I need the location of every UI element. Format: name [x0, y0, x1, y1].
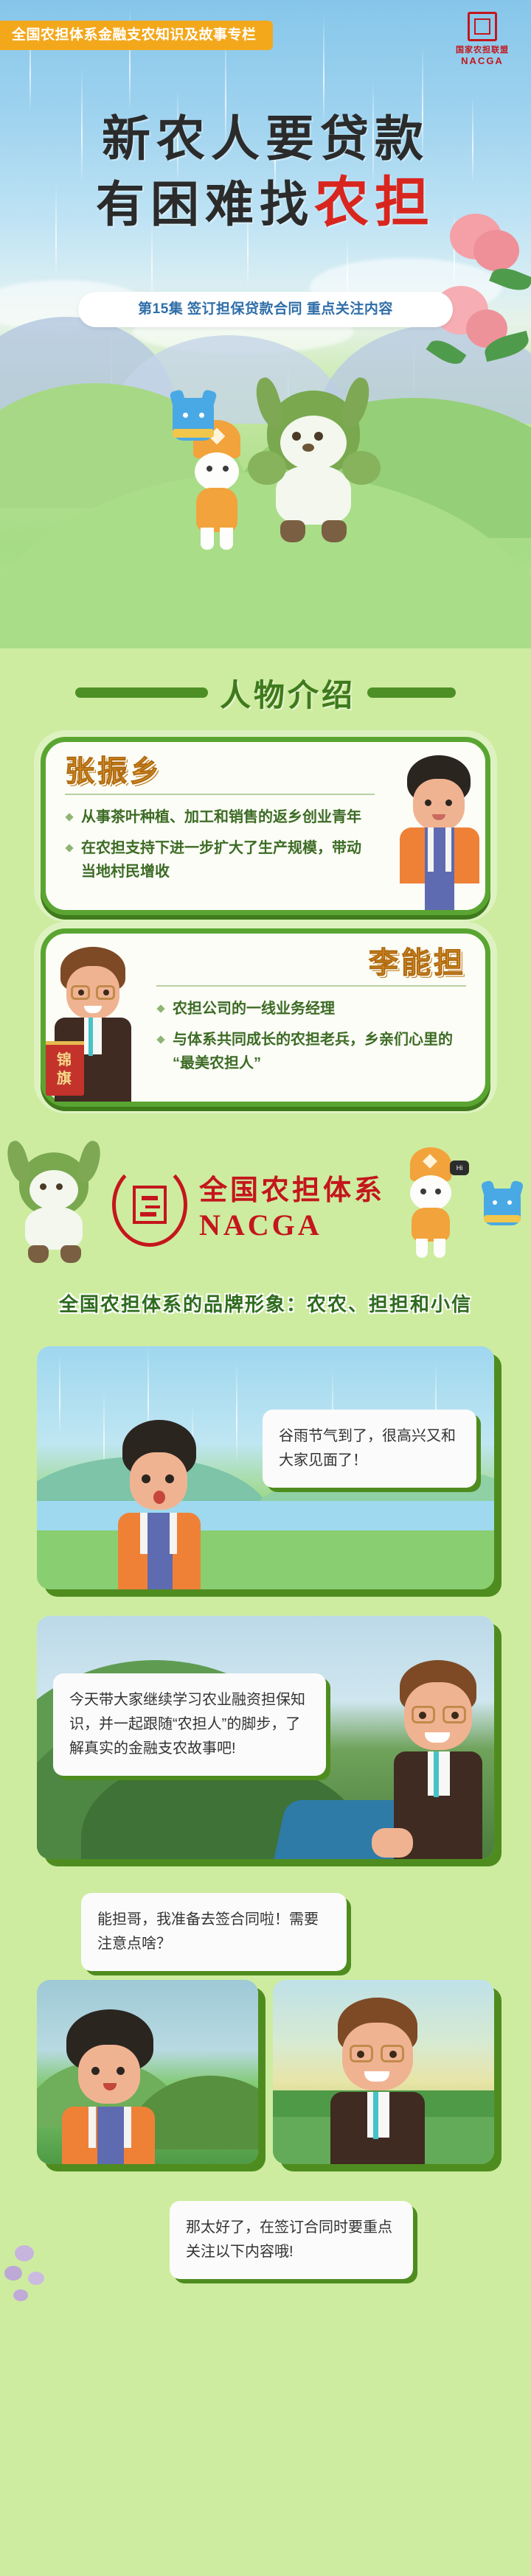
hero-title-line2-prefix: 有困难找: [96, 178, 314, 232]
speech-bubble-4: 那太好了，在签订合同时要重点关注以下内容哦!: [170, 2201, 413, 2279]
character-card-zhangzhenxiang: 张振乡 从事茶叶种植、加工和销售的返乡创业青年 在农担支持下进一步扩大了生产规模…: [41, 737, 490, 915]
hero-title: 新农人要贷款 有困难找农担: [0, 111, 531, 237]
character-name: 李能担: [156, 947, 466, 979]
character-bullet-list: 从事茶叶种植、加工和销售的返乡创业青年 在农担支持下进一步扩大了生产规模，带动当…: [65, 805, 375, 883]
brand-en-large: NACGA: [199, 1208, 385, 1242]
list-item: 在农担支持下进一步扩大了生产规模，带动当地村民增收: [65, 836, 375, 883]
section-header-people: 人物介绍: [0, 648, 531, 737]
comic-panel-row-two-shot: [0, 1980, 531, 2164]
hero-title-line1: 新农人要贷款: [0, 111, 531, 170]
brand-text-block: 全国农担体系 NACGA: [199, 1167, 385, 1242]
speech-bubble-3: 能担哥，我准备去签合同啦！需要注意点啥？: [81, 1893, 347, 1971]
hero-section: 全国农担体系金融支农知识及故事专栏 国家农担联盟 NACGA 新农人要贷款 有困…: [0, 0, 531, 648]
mascot-dandan-large: [6, 1142, 102, 1267]
brand-mark-top: 国家农担联盟 NACGA: [447, 12, 518, 66]
nacga-logo: 全国农担体系 NACGA: [109, 1157, 385, 1253]
comic-panel-2: 今天带大家继续学习农业融资担保知识，并一起跟随“农担人”的脚步，了解真实的金融支…: [37, 1616, 494, 1859]
brand-cn-small: 国家农担联盟: [447, 43, 518, 55]
flower-decoration: [0, 2230, 81, 2311]
infographic-page: 全国农担体系金融支农知识及故事专栏 国家农担联盟 NACGA 新农人要贷款 有困…: [0, 0, 531, 2576]
avatar-zhangzhenxiang: [386, 755, 490, 910]
character-linengdan-panel2: [383, 1660, 487, 1859]
comic-panel-3: [37, 1980, 258, 2164]
header-rule-left: [75, 687, 208, 698]
speech-bubble-1: 谷雨节气到了，很高兴又和大家见面了！: [263, 1410, 476, 1488]
seal-square-icon: [133, 1186, 167, 1224]
comic-panel-1: 谷雨节气到了，很高兴又和大家见面了！: [37, 1346, 494, 1589]
brand-en-small: NACGA: [447, 55, 518, 66]
character-linengdan-panel4: [317, 1998, 435, 2164]
divider: [65, 794, 375, 795]
speech-text: 那太好了，在签订合同时要重点关注以下内容哦!: [186, 2219, 392, 2260]
mascot-xiaoxin-large: [481, 1175, 525, 1234]
character-zhangzhenxiang-panel1: [118, 1420, 199, 1589]
speech-text: 谷雨节气到了，很高兴又和大家见面了！: [279, 1428, 456, 1469]
column-banner: 全国农担体系金融支农知识及故事专栏: [0, 21, 273, 50]
list-item: 从事茶叶种植、加工和销售的返乡创业青年: [65, 805, 375, 829]
bubble-row-4: 那太好了，在签订合同时要重点关注以下内容哦!: [0, 2186, 531, 2319]
hero-mascot-group: [170, 383, 383, 582]
hero-title-line2: 有困难找农担: [0, 170, 531, 237]
header-rule-right: [367, 687, 456, 698]
list-item: 农担公司的一线业务经理: [156, 997, 466, 1021]
hero-title-accent: 农担: [314, 173, 435, 234]
brand-caption: 全国农担体系的品牌形象：农农、担担和小信: [0, 1289, 531, 1317]
speech-text: 今天带大家继续学习农业融资担保知识，并一起跟随“农担人”的脚步，了解真实的金融支…: [69, 1692, 305, 1757]
speech-bubble-2: 今天带大家继续学习农业融资担保知识，并一起跟随“农担人”的脚步，了解真实的金融支…: [53, 1673, 326, 1776]
wreath-seal-icon: [109, 1157, 190, 1253]
section-heading-text: 人物介绍: [220, 671, 355, 715]
avatar-linengdan: 锦旗: [41, 947, 145, 1102]
brand-row: 全国农担体系 NACGA Hi: [0, 1120, 531, 1289]
brand-cn-large: 全国农担体系: [199, 1167, 385, 1208]
mascot-dandan: [251, 383, 376, 553]
mascot-nongnong-large: Hi: [392, 1146, 473, 1264]
character-bullet-list: 农担公司的一线业务经理 与体系共同成长的农担老兵，乡亲们心里的“最美农担人”: [156, 997, 466, 1075]
bubble-row-3: 能担哥，我准备去签合同啦！需要注意点啥？: [0, 1886, 531, 1980]
mascot-xiaoxin: [164, 386, 224, 454]
seal-square-icon: [468, 12, 497, 41]
list-item: 与体系共同成长的农担老兵，乡亲们心里的“最美农担人”: [156, 1028, 466, 1075]
content-section: 人物介绍 张振乡 从事茶叶种植、加工和销售的返乡创业青年 在农担支持下进一步扩大…: [0, 648, 531, 2319]
divider: [156, 985, 466, 987]
speech-text: 能担哥，我准备去签合同啦！需要注意点啥？: [97, 1911, 319, 1952]
character-name: 张振乡: [65, 755, 375, 788]
character-zhangzhenxiang-panel3: [66, 2009, 162, 2164]
character-card-linengdan: 李能担 农担公司的一线业务经理 与体系共同成长的农担老兵，乡亲们心里的“最美农担…: [41, 928, 490, 1107]
comic-panel-4: [273, 1980, 494, 2164]
episode-label: 第15集 签订担保贷款合同 重点关注内容: [78, 292, 453, 327]
